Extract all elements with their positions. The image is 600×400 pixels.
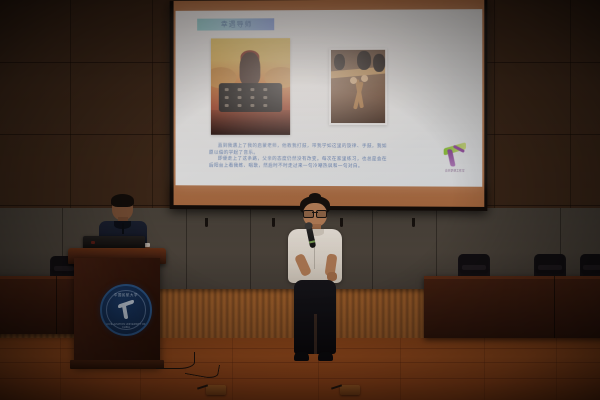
podium-base [70,360,164,369]
chair [580,254,600,278]
stage-monitor [206,385,226,395]
slide-body-text: 直到我遇上了我的启蒙老师，他教我打鼓，带我学如这里的旋律、手鼓，我如 愿以偿的学… [209,143,442,170]
drummer-on-stage-photo [211,38,290,135]
wall-hook-icon [272,218,275,227]
eyeglasses-icon [303,210,327,216]
chair [534,254,566,278]
mallets-on-timpani-photo [329,48,387,125]
green-purple-bird-logo: 音乐梦想工作室 [442,142,468,172]
stage-monitor [340,385,360,395]
presenter-speaking [286,196,344,366]
auditorium-photo: 幸遇导师 [0,0,600,400]
projection-screen: 幸遇导师 [170,0,488,211]
slide-title: 幸遇导师 [201,19,272,30]
institution-seal: 中国民航大学 CIVIL AVIATION UNIVERSITY OF CHIN… [100,284,152,336]
wall-hook-icon [205,218,208,227]
conference-table-right [424,276,600,338]
wall-hook-icon [412,218,415,227]
presentation-slide: 幸遇导师 [176,9,483,187]
seal-primary-text: 中国民航大学 [102,292,150,297]
seal-secondary-text: CIVIL AVIATION UNIVERSITY OF CHINA [102,323,150,329]
logo-caption: 音乐梦想工作室 [442,168,468,172]
chair [458,254,490,278]
